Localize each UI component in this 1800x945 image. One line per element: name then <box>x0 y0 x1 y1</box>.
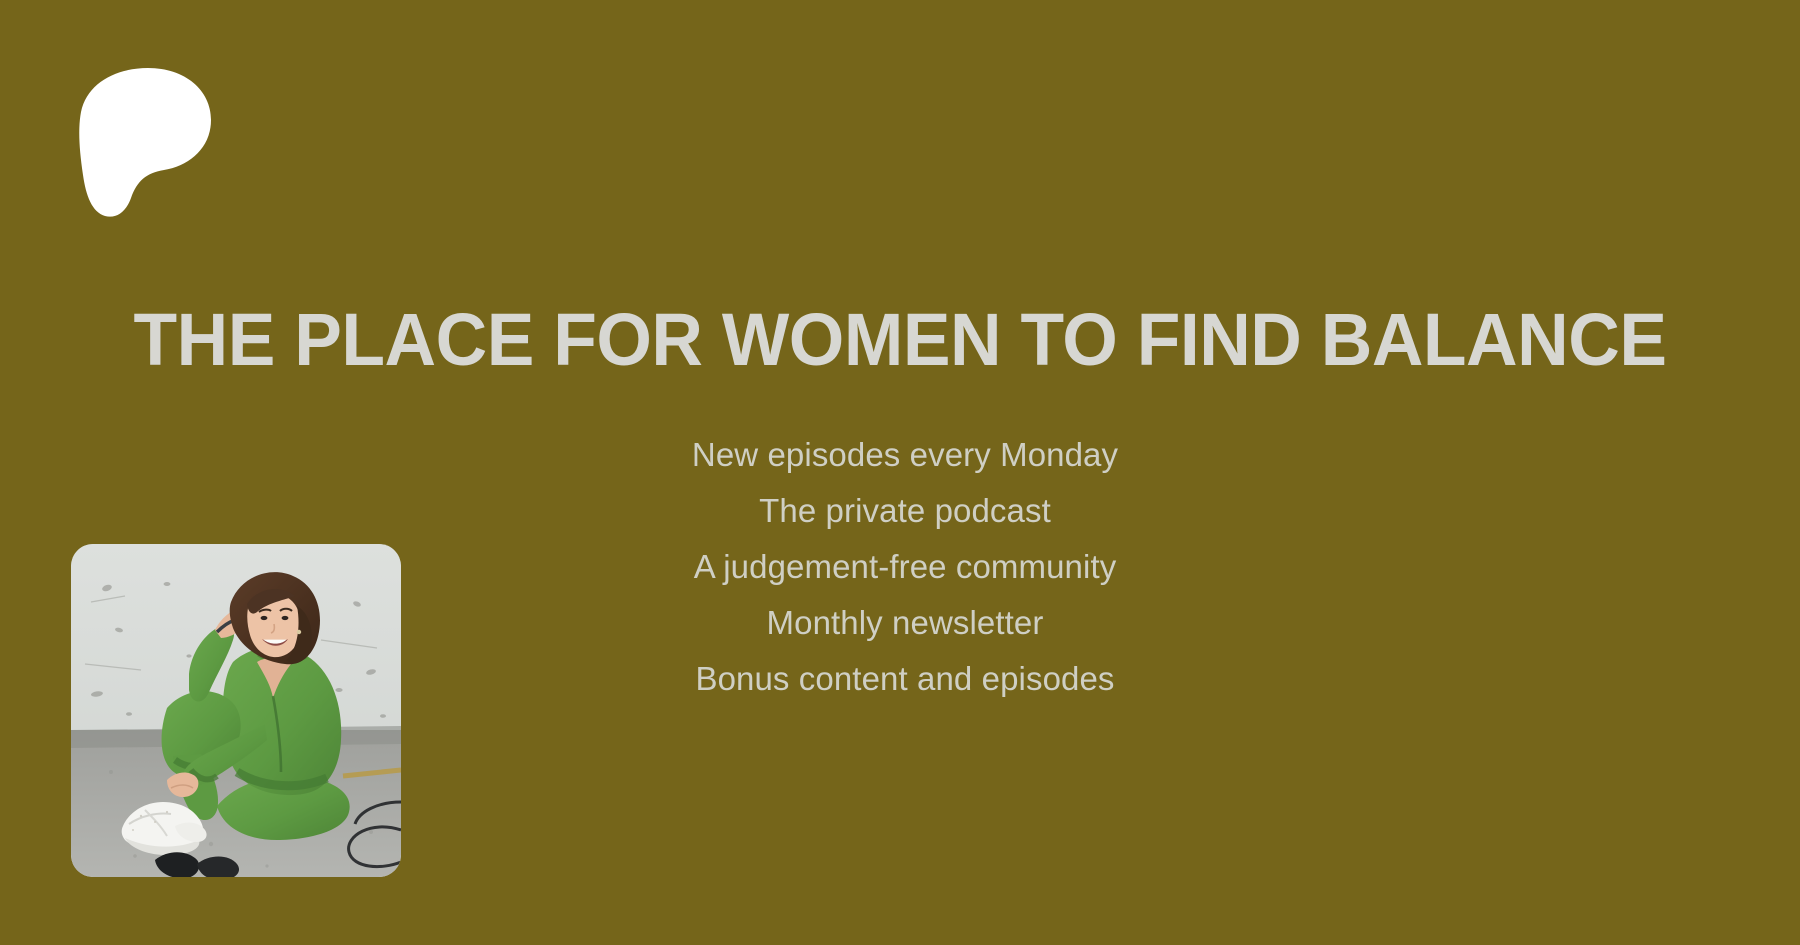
feature-item: New episodes every Monday <box>10 427 1800 483</box>
feature-item: The private podcast <box>10 483 1800 539</box>
page-title: THE PLACE FOR WOMEN TO FIND BALANCE <box>32 294 1769 386</box>
hero-canvas: THE PLACE FOR WOMEN TO FIND BALANCE New … <box>0 0 1800 945</box>
patreon-logo-icon[interactable] <box>72 62 217 220</box>
creator-photo <box>71 544 401 877</box>
